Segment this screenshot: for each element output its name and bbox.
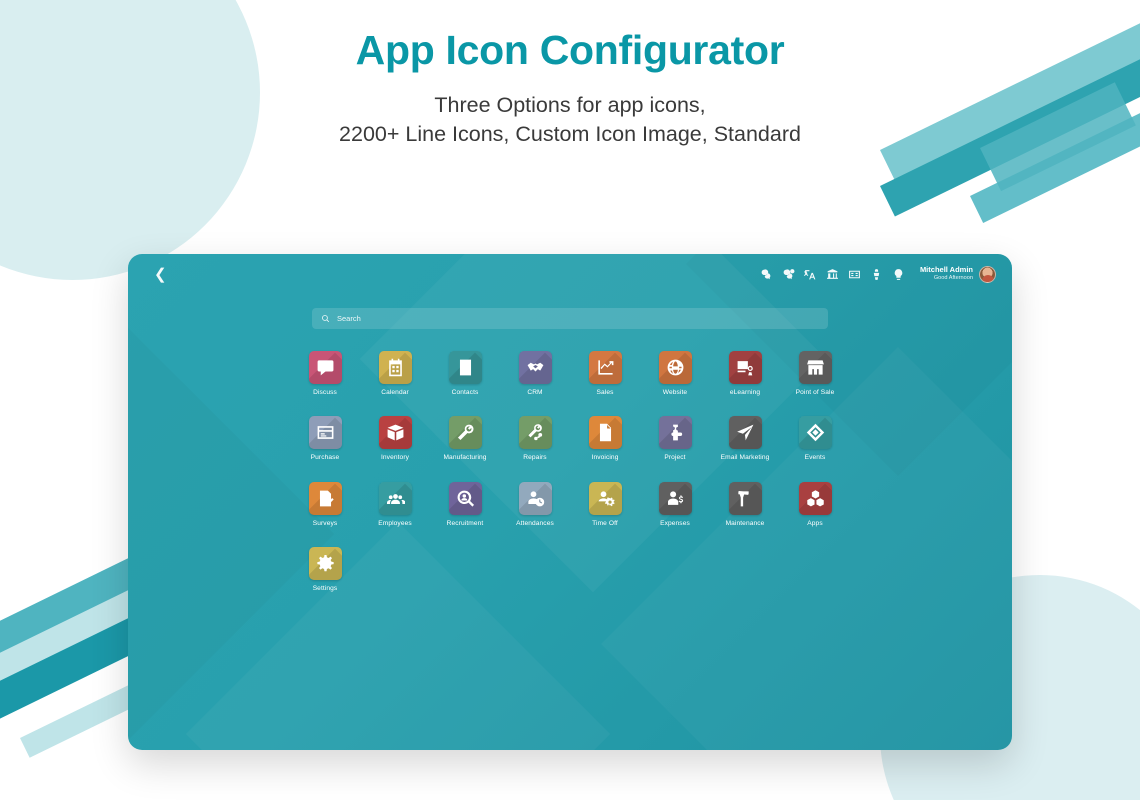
app-tile-maintenance[interactable]: Maintenance xyxy=(713,482,777,527)
invoicing-icon[interactable] xyxy=(589,416,622,449)
app-label: CRM xyxy=(527,389,542,396)
crm-handshake-icon[interactable] xyxy=(519,351,552,384)
app-tile-settings[interactable]: Settings xyxy=(293,547,357,592)
page-title: App Icon Configurator xyxy=(0,26,1140,75)
user-text-block: Mitchell Admin Good Afternoon xyxy=(920,266,973,281)
avatar[interactable] xyxy=(979,266,996,283)
app-tile-point-of-sale[interactable]: Point of Sale xyxy=(783,351,847,396)
sales-chart-icon[interactable] xyxy=(589,351,622,384)
app-label: Point of Sale xyxy=(796,389,835,396)
elearning-icon[interactable] xyxy=(729,351,762,384)
app-label: Settings xyxy=(313,585,338,592)
app-tile-discuss[interactable]: Discuss xyxy=(293,351,357,396)
app-label: Repairs xyxy=(523,454,546,461)
app-tile-time-off[interactable]: Time Off xyxy=(573,482,637,527)
settings-gear-icon[interactable] xyxy=(309,547,342,580)
search-input[interactable]: Search xyxy=(312,308,828,329)
app-label: Website xyxy=(663,389,687,396)
app-tile-recruitment[interactable]: Recruitment xyxy=(433,482,497,527)
app-tile-sales[interactable]: Sales xyxy=(573,351,637,396)
app-label: Employees xyxy=(378,520,412,527)
app-tile-email-marketing[interactable]: Email Marketing xyxy=(713,416,777,461)
app-tile-crm[interactable]: CRM xyxy=(503,351,567,396)
app-label: Contacts xyxy=(452,389,479,396)
repairs-icon[interactable] xyxy=(519,416,552,449)
app-label: Events xyxy=(805,454,826,461)
page-header: App Icon Configurator Three Options for … xyxy=(0,26,1140,149)
app-label: Recruitment xyxy=(447,520,484,527)
enterprise-icon[interactable] xyxy=(826,268,839,281)
app-tile-attendances[interactable]: Attendances xyxy=(503,482,567,527)
app-label: Attendances xyxy=(516,520,554,527)
app-tile-elearning[interactable]: eLearning xyxy=(713,351,777,396)
app-label: Project xyxy=(664,454,685,461)
app-grid: DiscussCalendarContactsCRMSalesWebsiteeL… xyxy=(290,351,850,592)
app-tile-apps[interactable]: Apps xyxy=(783,482,847,527)
app-label: Manufacturing xyxy=(443,454,486,461)
maintenance-icon[interactable] xyxy=(729,482,762,515)
app-tile-surveys[interactable]: Surveys xyxy=(293,482,357,527)
app-tile-employees[interactable]: Employees xyxy=(363,482,427,527)
pos-store-icon[interactable] xyxy=(799,351,832,384)
expenses-icon[interactable] xyxy=(659,482,692,515)
app-tile-calendar[interactable]: Calendar xyxy=(363,351,427,396)
apps-blocks-icon[interactable] xyxy=(799,482,832,515)
surveys-icon[interactable] xyxy=(309,482,342,515)
topbar-icon-group: Mitchell Admin Good Afternoon xyxy=(760,266,996,283)
email-send-icon[interactable] xyxy=(729,416,762,449)
app-label: Discuss xyxy=(313,389,337,396)
debug-icon[interactable] xyxy=(870,268,883,281)
events-ticket-icon[interactable] xyxy=(799,416,832,449)
app-tile-manufacturing[interactable]: Manufacturing xyxy=(433,416,497,461)
inventory-box-icon[interactable] xyxy=(379,416,412,449)
app-tile-invoicing[interactable]: Invoicing xyxy=(573,416,637,461)
app-label: Purchase xyxy=(311,454,340,461)
app-label: Surveys xyxy=(313,520,338,527)
app-tile-project[interactable]: Project xyxy=(643,416,707,461)
app-label: Email Marketing xyxy=(721,454,770,461)
app-tile-expenses[interactable]: Expenses xyxy=(643,482,707,527)
app-tile-events[interactable]: Events xyxy=(783,416,847,461)
app-label: Expenses xyxy=(660,520,690,527)
app-label: Sales xyxy=(597,389,614,396)
manufacturing-icon[interactable] xyxy=(449,416,482,449)
calendar-icon[interactable] xyxy=(379,351,412,384)
app-tile-website[interactable]: Website xyxy=(643,351,707,396)
website-globe-icon[interactable] xyxy=(659,351,692,384)
app-label: Apps xyxy=(807,520,822,527)
bulb-icon[interactable] xyxy=(892,268,905,281)
user-greeting: Good Afternoon xyxy=(920,275,973,281)
activities-icon[interactable] xyxy=(782,268,795,281)
app-window: ❮ xyxy=(128,254,1012,750)
app-tile-contacts[interactable]: Contacts xyxy=(433,351,497,396)
chevron-left-icon[interactable]: ❮ xyxy=(154,267,167,282)
app-label: Calendar xyxy=(381,389,409,396)
page-subtitle: Three Options for app icons, 2200+ Line … xyxy=(0,91,1140,149)
app-tile-purchase[interactable]: Purchase xyxy=(293,416,357,461)
app-label: Time Off xyxy=(592,520,618,527)
search-placeholder: Search xyxy=(337,314,361,323)
apps-switch-icon[interactable] xyxy=(848,268,861,281)
timeoff-icon[interactable] xyxy=(589,482,622,515)
attendances-icon[interactable] xyxy=(519,482,552,515)
user-menu[interactable]: Mitchell Admin Good Afternoon xyxy=(920,266,996,283)
page-root: App Icon Configurator Three Options for … xyxy=(0,0,1140,800)
employees-icon[interactable] xyxy=(379,482,412,515)
page-subtitle-line2: 2200+ Line Icons, Custom Icon Image, Sta… xyxy=(0,120,1140,149)
project-puzzle-icon[interactable] xyxy=(659,416,692,449)
app-label: Maintenance xyxy=(726,520,765,527)
app-label: eLearning xyxy=(730,389,760,396)
app-label: Inventory xyxy=(381,454,409,461)
user-name: Mitchell Admin xyxy=(920,266,973,275)
app-label: Invoicing xyxy=(592,454,619,461)
translate-icon[interactable] xyxy=(804,268,817,281)
app-tile-repairs[interactable]: Repairs xyxy=(503,416,567,461)
discuss-icon[interactable] xyxy=(309,351,342,384)
contacts-icon[interactable] xyxy=(449,351,482,384)
window-topbar: ❮ xyxy=(128,254,1012,294)
recruitment-icon[interactable] xyxy=(449,482,482,515)
app-tile-inventory[interactable]: Inventory xyxy=(363,416,427,461)
messages-icon[interactable] xyxy=(760,268,773,281)
purchase-card-icon[interactable] xyxy=(309,416,342,449)
page-subtitle-line1: Three Options for app icons, xyxy=(0,91,1140,120)
search-icon xyxy=(321,314,330,323)
